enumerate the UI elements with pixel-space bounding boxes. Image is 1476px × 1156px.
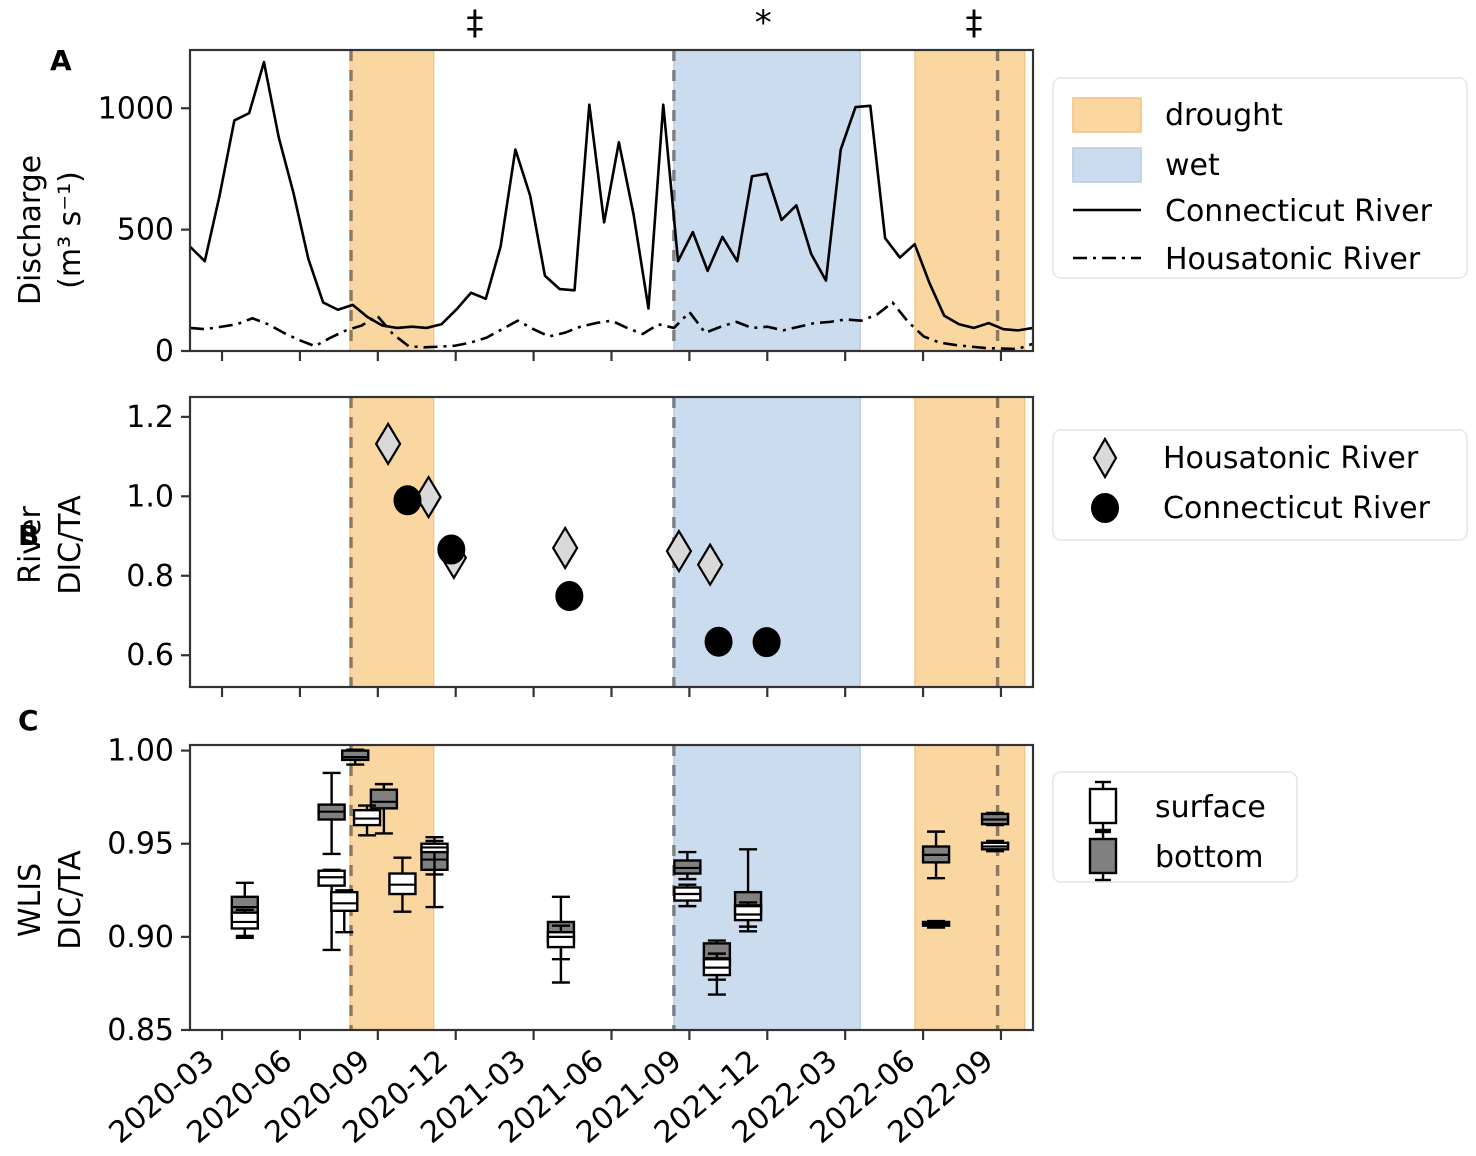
panelC-box-surface	[232, 910, 258, 938]
panelA-ylabel-line2: (m³ s⁻¹)	[53, 171, 88, 289]
panelB-frame	[190, 397, 1033, 687]
multi-panel-timeseries-figure: 05001000ADischarge(m³ s⁻¹)‡*‡0.60.81.01.…	[0, 0, 1476, 1156]
legend-label-connecticut-river: Connecticut River	[1163, 491, 1431, 526]
panelA-series-connecticut-river	[190, 62, 1033, 330]
panelA-series-housatonic-river	[190, 302, 1033, 349]
shaded-region-drought	[915, 745, 1025, 1030]
panelB-point-connecticut	[438, 536, 464, 564]
panelB-ytick-1-label: 1.0	[126, 479, 174, 514]
panel-letter-a: A	[50, 44, 72, 77]
panelA-ytick-500-label: 500	[117, 213, 174, 248]
panelC-ylabel-line2: DIC/TA	[53, 850, 88, 950]
panelA-frame	[190, 50, 1033, 351]
figure-canvas: 05001000ADischarge(m³ s⁻¹)‡*‡0.60.81.01.…	[0, 0, 1476, 1156]
legend-box-surface	[1090, 789, 1116, 823]
panelC-box-surface	[982, 841, 1008, 851]
shaded-region-drought	[350, 50, 433, 351]
shaded-region-wet	[674, 745, 860, 1030]
panelC-box-bottom	[319, 773, 345, 854]
panelC-ytick-0.95-label: 0.95	[107, 827, 174, 862]
panelC-box-surface	[923, 921, 949, 928]
annotation-marker-0: ‡	[466, 3, 483, 43]
legend-swatch-drought	[1073, 98, 1141, 132]
legend-label-housatonic-river: Housatonic River	[1165, 242, 1421, 277]
panelC-ytick-0.85-label: 0.85	[107, 1013, 174, 1048]
panelB-ytick-0.6-label: 0.6	[126, 638, 174, 673]
annotation-marker-2: ‡	[965, 3, 982, 43]
panelB-point-connecticut	[706, 628, 732, 656]
panelB-point-housatonic	[553, 528, 577, 568]
shaded-region-drought	[915, 397, 1025, 687]
panel-letter-c: C	[18, 704, 39, 737]
panelC-ytick-1-label: 1.00	[107, 734, 174, 769]
panelC-ytick-0.9-label: 0.90	[107, 920, 174, 955]
panelC-box-bottom	[982, 813, 1008, 825]
panelA-ytick-0-label: 0	[155, 334, 174, 369]
legend-swatch-wet	[1073, 148, 1141, 182]
panelB-ytick-1.2-label: 1.2	[126, 400, 174, 435]
panelB-ylabel-line2: DIC/TA	[53, 495, 88, 595]
annotation-marker-1: *	[755, 3, 772, 43]
panelB-point-connecticut	[556, 582, 582, 610]
legend-label-connecticut-river: Connecticut River	[1165, 194, 1433, 229]
panelC-frame	[190, 745, 1033, 1030]
panelA-ytick-1000-label: 1000	[98, 91, 174, 126]
legend-marker-connecticut	[1092, 494, 1118, 522]
panelA-ylabel-line1: Discharge	[13, 155, 48, 305]
panelB-point-connecticut	[394, 486, 420, 514]
shaded-region-wet	[674, 50, 860, 351]
shaded-region-drought	[915, 50, 1025, 351]
legend-label-bottom: bottom	[1155, 840, 1264, 875]
legend-label-surface: surface	[1155, 790, 1266, 825]
legend-label-drought: drought	[1165, 98, 1283, 133]
panelC-ylabel-line1: WLIS	[13, 863, 48, 937]
panelB-point-connecticut	[754, 628, 780, 656]
legend-label-housatonic-river: Housatonic River	[1163, 441, 1419, 476]
legend-label-wet: wet	[1165, 148, 1220, 183]
legend-box-bottom	[1090, 839, 1116, 873]
panelB-ytick-0.8-label: 0.8	[126, 559, 174, 594]
panelB-ylabel-line1: River	[13, 505, 48, 583]
